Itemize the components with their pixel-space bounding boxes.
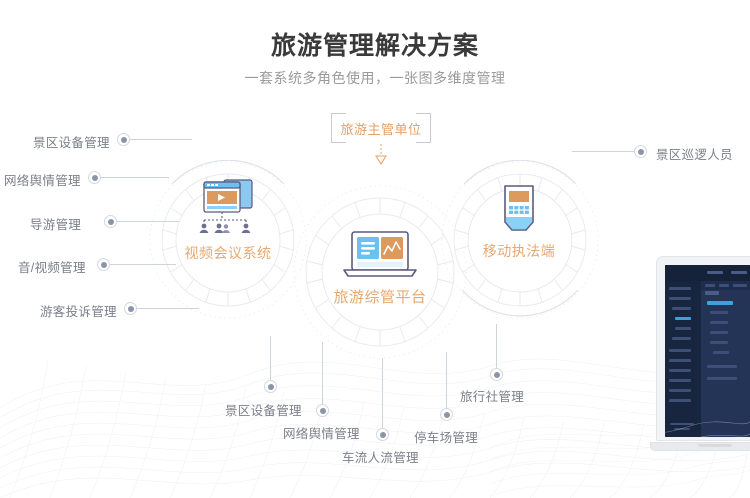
connector-line: [130, 139, 192, 140]
leaf-label: 停车场管理: [414, 427, 478, 446]
connector-line: [117, 221, 179, 222]
leaf-label: 车流人流管理: [342, 447, 419, 466]
leaf-label: 景区巡逻人员: [656, 144, 733, 163]
connector-line: [322, 342, 323, 404]
video-conference-icon: [196, 176, 260, 234]
arrow-down-icon: [374, 144, 388, 166]
leaf-label: 导游管理: [30, 214, 81, 233]
authority-badge[interactable]: 旅游主管单位: [331, 114, 431, 142]
node-label-video-conference: 视频会议系统: [168, 243, 288, 263]
leaf-dot[interactable]: [88, 171, 101, 184]
leaf-dot[interactable]: [264, 380, 277, 393]
background-mesh-right: [490, 378, 750, 498]
page-subtitle: 一套系统多角色使用，一张图多维度管理: [0, 68, 750, 88]
solution-diagram-canvas: 旅游管理解决方案 一套系统多角色使用，一张图多维度管理 旅游主管单位: [0, 0, 750, 498]
connector-line: [110, 264, 176, 265]
connector-line: [382, 358, 383, 428]
connector-line: [446, 352, 447, 408]
connector-line: [572, 151, 634, 152]
leaf-label: 网络舆情管理: [4, 170, 81, 189]
leaf-dot[interactable]: [97, 258, 110, 271]
node-label-mobile-enforcement: 移动执法端: [464, 241, 574, 261]
dashboard-topbar: [665, 265, 750, 281]
connector-line: [137, 308, 199, 309]
page-title: 旅游管理解决方案: [0, 26, 750, 62]
laptop-dashboard-icon: [340, 230, 420, 280]
leaf-label: 网络舆情管理: [283, 423, 360, 442]
leaf-label: 游客投诉管理: [40, 301, 117, 320]
leaf-label: 景区设备管理: [33, 132, 110, 151]
connector-line: [101, 177, 169, 178]
connector-line: [496, 324, 497, 368]
leaf-label: 音/视频管理: [18, 257, 86, 276]
connector-line: [270, 336, 271, 380]
leaf-dot[interactable]: [104, 215, 117, 228]
leaf-dot[interactable]: [316, 404, 329, 417]
leaf-label: 景区设备管理: [225, 400, 302, 419]
leaf-dot[interactable]: [124, 302, 137, 315]
leaf-dot[interactable]: [634, 145, 647, 158]
leaf-dot[interactable]: [440, 408, 453, 421]
dashboard-subbar: [701, 281, 750, 290]
authority-badge-label: 旅游主管单位: [331, 114, 431, 142]
leaf-dot[interactable]: [376, 428, 389, 441]
node-label-platform: 旅游综管平台: [318, 286, 442, 307]
mobile-device-icon: [496, 184, 542, 236]
leaf-dot[interactable]: [117, 133, 130, 146]
